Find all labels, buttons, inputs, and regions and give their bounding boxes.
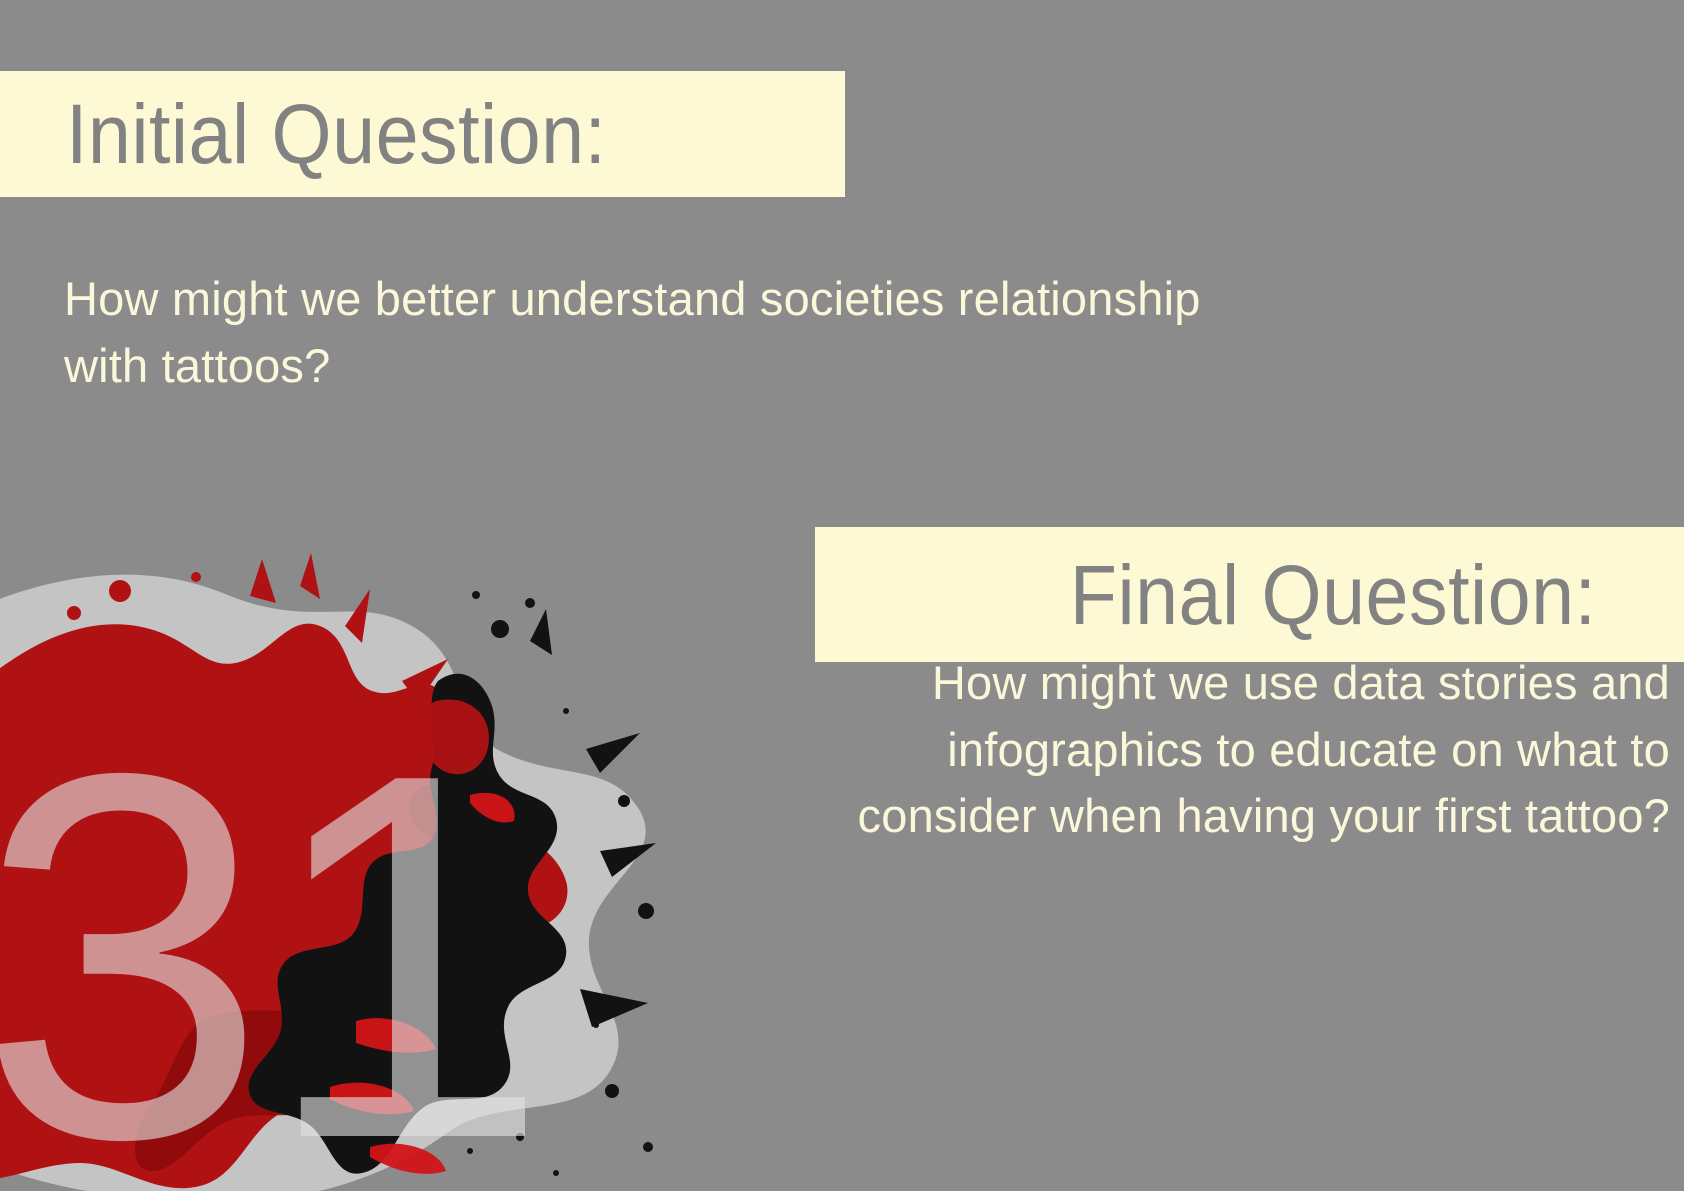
- initial-question-title: Initial Question:: [66, 92, 606, 176]
- presentation-slide: 31 Initial Question: How might we better…: [0, 0, 1684, 1191]
- initial-question-body: How might we better understand societies…: [64, 266, 1384, 399]
- final-question-title: Final Question:: [1069, 553, 1596, 637]
- final-question-body: How might we use data stories and infogr…: [590, 650, 1670, 850]
- slide-number-watermark: 31: [0, 718, 544, 1191]
- initial-question-banner: Initial Question:: [0, 71, 845, 197]
- final-question-banner: Final Question:: [815, 527, 1684, 662]
